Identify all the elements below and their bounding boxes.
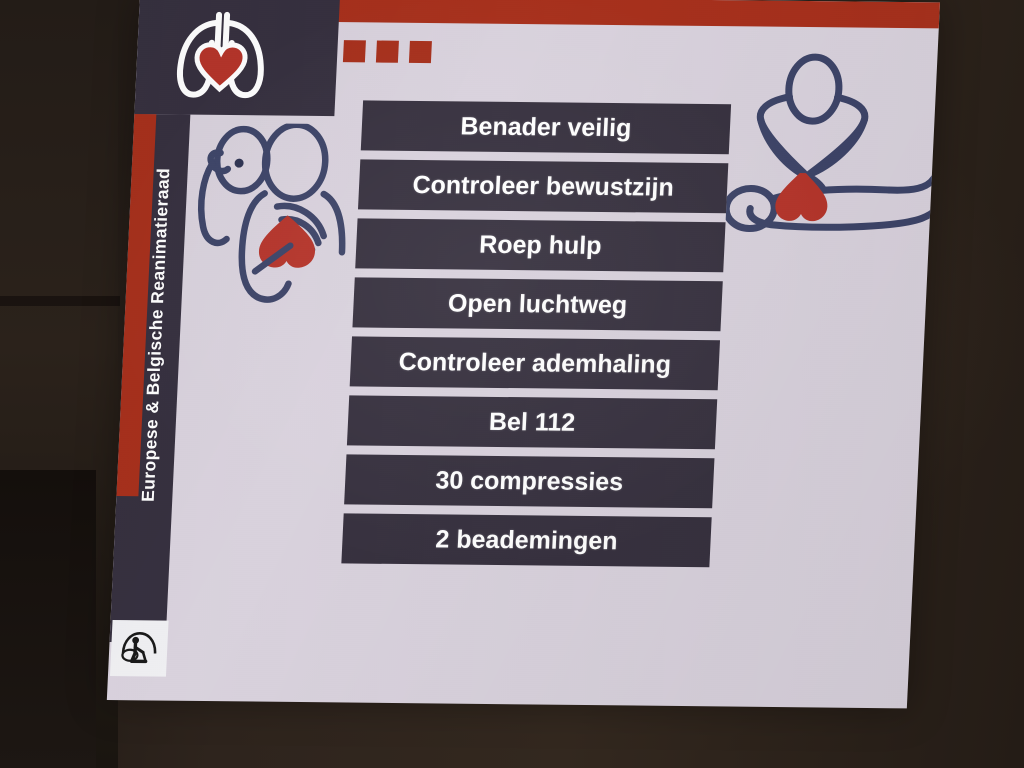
step-bar[interactable]: Benader veilig (361, 100, 731, 154)
presentation-slide: Europese & Belgische Reanimatieraad (107, 0, 940, 708)
step-bar[interactable]: Open luchtweg (352, 277, 722, 331)
rescuer-calling-and-compressions-icon (187, 123, 371, 320)
step-bar[interactable]: Controleer ademhaling (350, 336, 720, 390)
step-bar[interactable]: Controleer bewustzijn (358, 159, 728, 213)
step-bar[interactable]: Roep hulp (355, 218, 725, 272)
square-marker-1 (343, 40, 366, 62)
square-marker-3 (409, 41, 432, 63)
photo-scene: Europese & Belgische Reanimatieraad (0, 0, 1024, 768)
cpr-resuscitation-icon (115, 625, 163, 671)
step-label: Bel 112 (488, 407, 576, 437)
step-label: 30 compressies (435, 466, 624, 497)
cpr-kneeling-over-victim-icon (724, 48, 940, 250)
corner-logo (110, 620, 169, 677)
projection-area: Europese & Belgische Reanimatieraad (0, 0, 1024, 768)
step-label: 2 beademingen (435, 525, 618, 556)
step-bar[interactable]: 2 beademingen (341, 513, 711, 567)
step-label: Controleer ademhaling (398, 347, 672, 379)
step-label: Benader veilig (460, 112, 632, 143)
step-label: Open luchtweg (447, 289, 628, 320)
square-marker-2 (376, 41, 399, 63)
step-bar[interactable]: Bel 112 (347, 395, 717, 449)
step-label: Roep hulp (479, 230, 603, 260)
step-label: Controleer bewustzijn (412, 170, 675, 202)
top-red-band (335, 0, 940, 28)
square-markers (343, 40, 432, 63)
step-bar[interactable]: 30 compressies (344, 454, 714, 508)
steps-list: Benader veilig Controleer bewustzijn Roe… (341, 100, 731, 576)
